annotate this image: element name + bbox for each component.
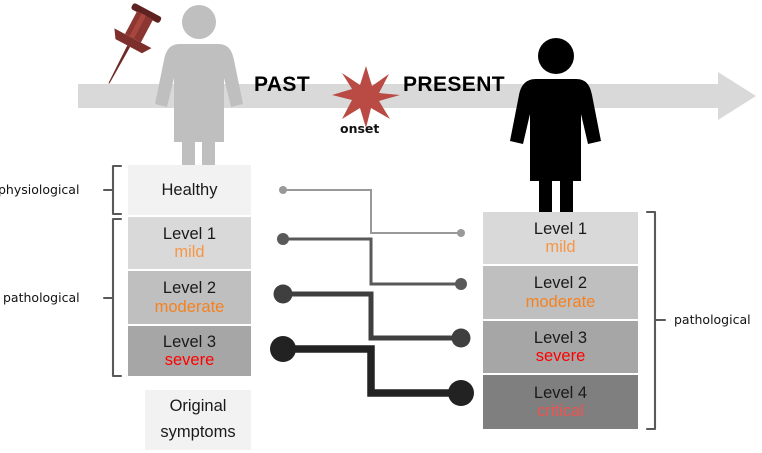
left-box-healthy-title: Healthy: [162, 181, 218, 199]
left-box-level-2-severity: moderate: [155, 298, 225, 316]
right-box-level-2-title: Level 2: [534, 274, 587, 292]
right-box-level-2-severity: moderate: [526, 293, 596, 311]
present-person-figure: [510, 38, 601, 224]
right-box-level-1-severity: mild: [545, 238, 575, 256]
right-box-level-3-severity: severe: [536, 347, 586, 365]
left-box-level-2-title: Level 2: [163, 279, 216, 297]
diagram-canvas: PAST PRESENT onset physiological patholo…: [0, 0, 762, 453]
left-bracket-pathological: [104, 219, 121, 376]
right-box-level-2[interactable]: Level 2 moderate: [483, 266, 638, 319]
onset-label: onset: [340, 121, 379, 136]
past-person-figure: [155, 5, 243, 184]
right-box-level-3-title: Level 3: [534, 329, 587, 347]
connector-healthy-to-level1: [279, 186, 465, 237]
right-box-level-4-title: Level 4: [534, 384, 587, 402]
right-box-level-4-severity: critical: [537, 402, 584, 420]
left-box-level-3-title: Level 3: [163, 333, 216, 351]
right-box-level-4[interactable]: Level 4 critical: [483, 375, 638, 429]
right-box-level-1-title: Level 1: [534, 220, 587, 238]
diagram-graphics: [0, 0, 762, 453]
left-box-level-3[interactable]: Level 3 severe: [128, 326, 251, 376]
left-box-level-2[interactable]: Level 2 moderate: [128, 271, 251, 324]
bracket-label-pathological-right: pathological: [674, 312, 751, 327]
left-box-healthy[interactable]: Healthy: [128, 165, 251, 215]
onset-star-icon: [332, 66, 400, 128]
left-box-level-3-severity: severe: [165, 351, 215, 369]
left-bracket-physiological: [104, 166, 121, 214]
bracket-label-physiological: physiological: [0, 182, 79, 197]
left-box-level-1-severity: mild: [174, 243, 204, 261]
left-box-level-1-title: Level 1: [163, 225, 216, 243]
timeline-present-label: PRESENT: [403, 73, 505, 97]
original-symptoms-line-1: Original: [170, 394, 227, 420]
timeline-past-label: PAST: [254, 73, 310, 97]
left-box-level-1[interactable]: Level 1 mild: [128, 217, 251, 269]
pushpin-icon: [90, 0, 167, 94]
connector-level1-to-level2: [277, 233, 467, 290]
original-symptoms-box[interactable]: Original symptoms: [145, 390, 251, 450]
right-box-level-3[interactable]: Level 3 severe: [483, 321, 638, 373]
original-symptoms-line-2: symptoms: [160, 420, 235, 446]
connector-level2-to-level3: [274, 285, 471, 348]
bracket-label-pathological-left: pathological: [3, 290, 80, 305]
right-box-level-1[interactable]: Level 1 mild: [483, 212, 638, 264]
right-bracket-pathological: [647, 212, 665, 429]
connector-level3-to-level4: [270, 336, 474, 406]
